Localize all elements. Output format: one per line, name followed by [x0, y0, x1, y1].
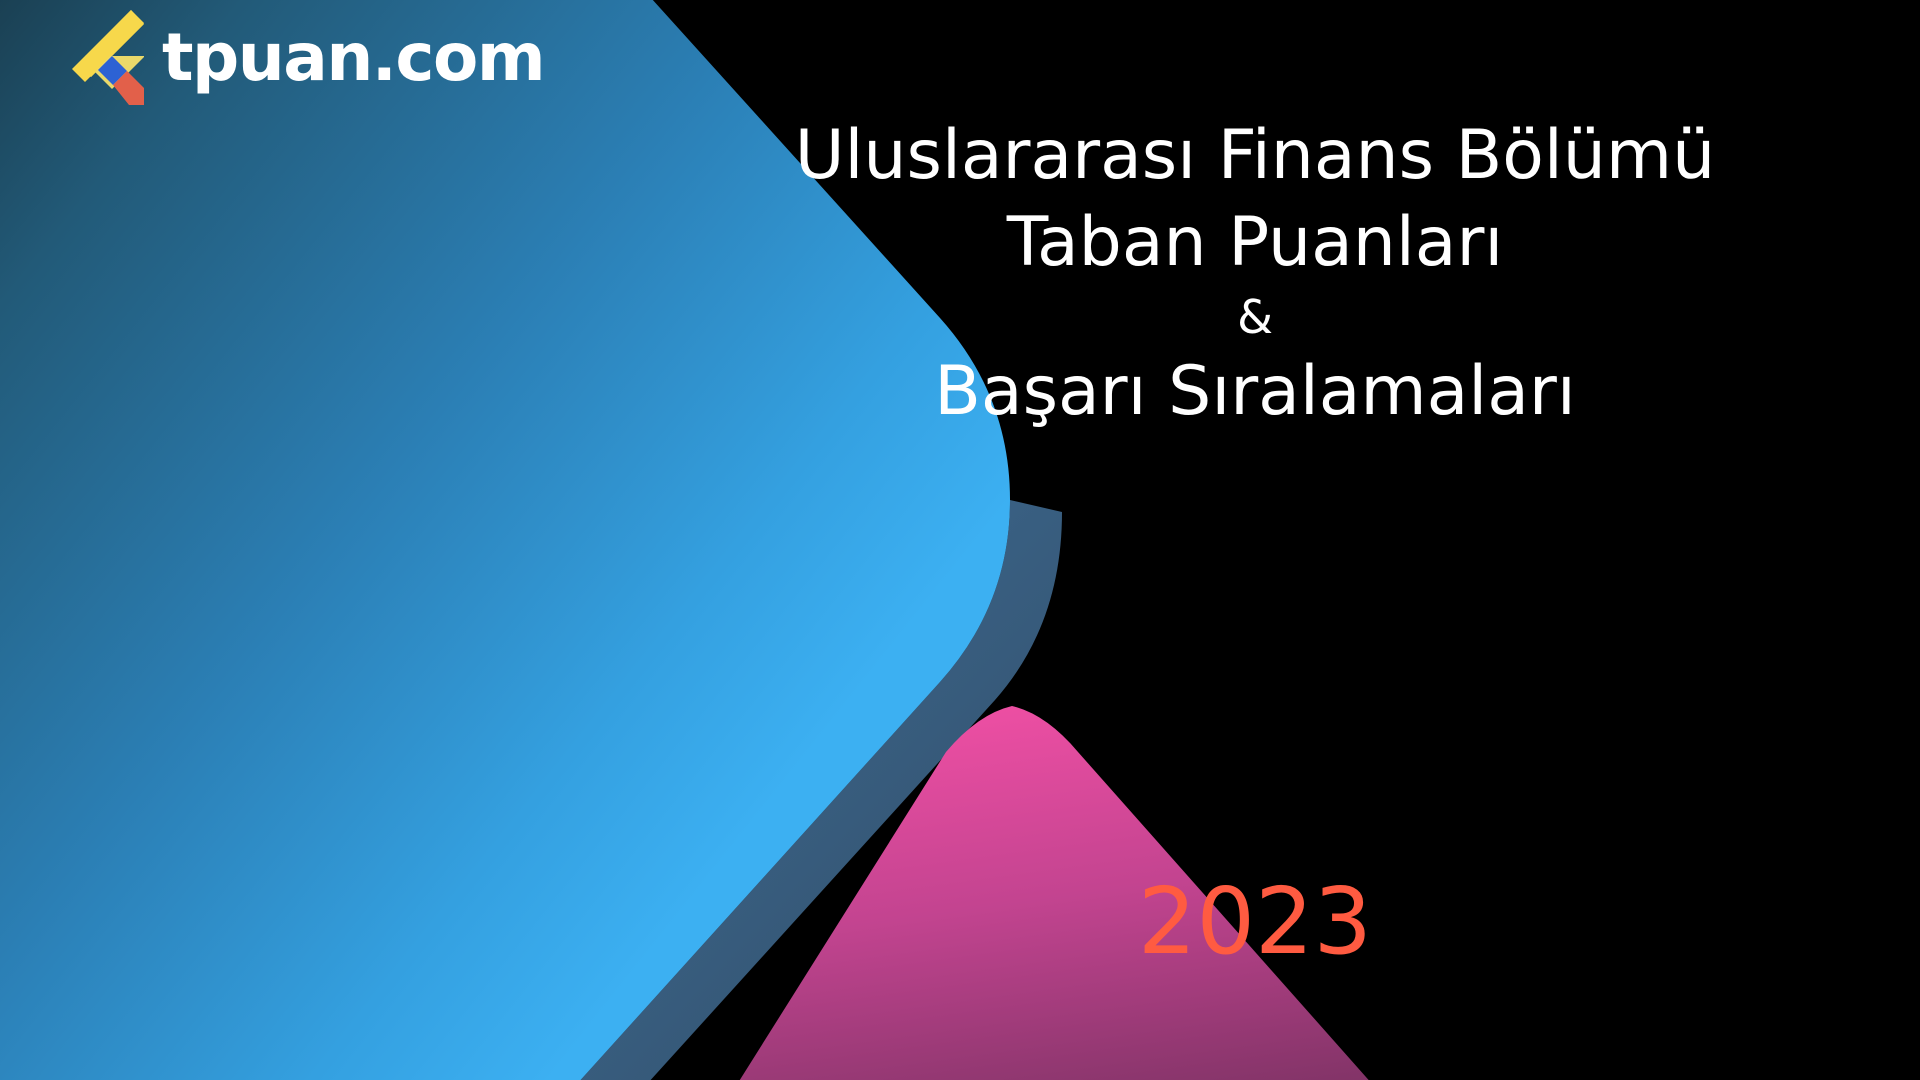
slide-headline: Uluslararası Finans Bölümü Taban Puanlar…	[620, 112, 1890, 435]
headline-ampersand: &	[620, 286, 1890, 348]
headline-line-1: Uluslararası Finans Bölümü	[620, 112, 1890, 199]
brand-logo[interactable]: tpuan.com	[58, 8, 544, 106]
headline-line-2: Taban Puanları	[620, 199, 1890, 286]
headline-line-3: Başarı Sıralamaları	[620, 348, 1890, 435]
brand-name-text: tpuan.com	[162, 25, 544, 91]
tpuan-chevron-logo-icon	[58, 8, 144, 106]
presentation-slide: tpuan.com Uluslararası Finans Bölümü Tab…	[0, 0, 1920, 1080]
year-label: 2023	[620, 876, 1890, 968]
